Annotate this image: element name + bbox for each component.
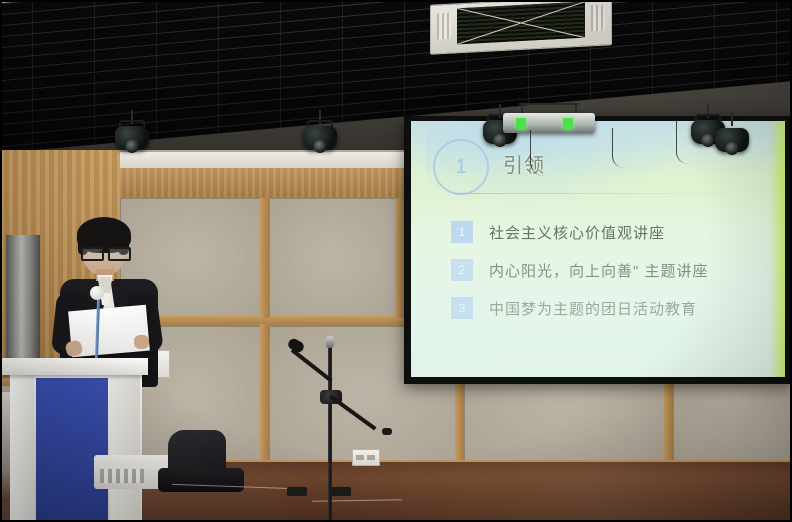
list-item: 2 内心阳光，向上向善" 主题讲座 [451,259,775,281]
photo-scene: 1 引领 1 社会主义核心价值观讲座 2 内心阳光，向上向善" 主题讲座 3 中… [0,0,792,522]
outlet-socket [367,455,375,460]
glasses-lens-left [81,247,104,261]
glasses-lens-right [108,247,131,261]
presenter-hand-right [134,335,149,349]
bullet-number-box: 1 [451,221,473,243]
wall-panel [269,198,397,318]
ac-diffuser [457,2,585,45]
bullet-number-box: 2 [451,259,473,281]
lectern-front-panel [36,378,108,522]
slide-section-number: 1 [455,156,466,179]
device-control-panel [100,469,144,483]
lectern [0,358,148,522]
podium-microphone-head [90,286,104,300]
wall-trim-vertical [260,198,269,318]
stage-light-bar-icon [503,103,595,133]
lectern-leg-left [10,373,34,522]
stage-light-icon [300,110,340,156]
glasses-bridge [100,251,108,253]
light-lens [314,140,327,153]
hanging-cable [530,130,547,176]
light-bar-led [516,118,526,129]
bullet-text: 中国梦为主题的团日活动教育 [489,298,697,319]
mic-stand-top-tip [326,336,334,348]
ac-vent-right [591,5,605,32]
lectern-top-surface [0,358,148,375]
light-lens [494,134,507,147]
light-hanger-rod [731,112,733,126]
wall-trim-vertical [260,324,269,464]
light-bar-crossbar [519,103,579,105]
stage-light-icon [112,110,152,156]
stage-light-icon [712,112,752,158]
slide-bullet-list: 1 社会主义核心价值观讲座 2 内心阳光，向上向善" 主题讲座 3 中国梦为主题… [451,221,775,335]
wall-column [6,235,40,363]
mic-stand-pole [328,342,332,522]
bullet-text: 内心阳光，向上向善" 主题讲座 [489,260,709,281]
light-lens [726,142,739,155]
wall-trim-vertical [395,198,404,318]
hanging-cable [612,128,627,168]
light-lens [126,140,139,153]
equipment-case [158,468,244,492]
bullet-text: 社会主义核心价值观讲座 [489,222,665,243]
microphone-stand [300,336,360,522]
ac-vent-left [437,13,451,40]
glasses-icon [81,247,127,257]
mic-stand-counterweight [382,428,392,435]
projection-screen-surface: 1 引领 1 社会主义核心价值观讲座 2 内心阳光，向上向善" 主题讲座 3 中… [411,121,785,377]
slide-title-underline [453,193,753,194]
light-bar-led [563,118,573,129]
ceiling-ac-unit-icon [430,0,612,55]
lectern-leg-right [110,373,140,522]
list-item: 3 中国梦为主题的团日活动教育 [451,297,775,319]
list-item: 1 社会主义核心价值观讲座 [451,221,775,243]
hanging-cable [676,118,691,164]
bullet-number-box: 3 [451,297,473,319]
